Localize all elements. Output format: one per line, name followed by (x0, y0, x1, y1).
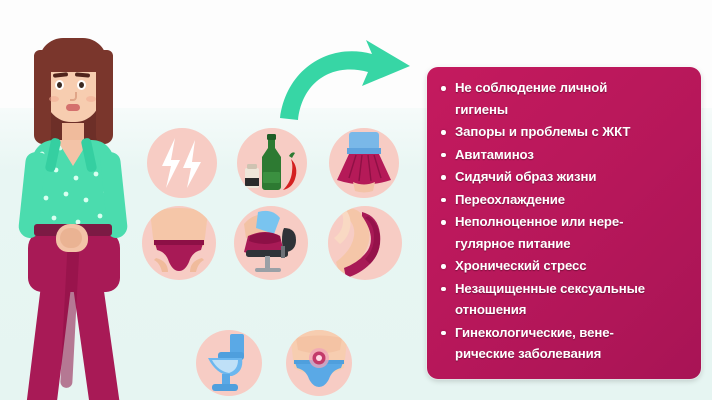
cause-item: Гинекологические, вене- рические заболев… (437, 322, 693, 365)
woman-illustration (8, 28, 138, 400)
pupil-left (57, 82, 62, 88)
icon-circle-inflammation[interactable] (286, 330, 352, 396)
abdomen-pain-icon (286, 330, 352, 396)
cause-item: Запоры и проблемы с ЖКТ (437, 121, 693, 143)
icon-circle-pain[interactable] (147, 128, 217, 198)
cause-item: Незащищенные сексуальные отношения (437, 278, 693, 321)
icon-circle-alcohol[interactable] (237, 128, 307, 198)
hair-strand-right (96, 50, 113, 144)
icon-circle-toilet[interactable] (196, 330, 262, 396)
cause-item: Авитаминоз (437, 144, 693, 166)
lightning-bolt-icon (147, 128, 217, 198)
leg-right (72, 276, 121, 400)
nose (70, 92, 77, 101)
cause-item: Хронический стресс (437, 255, 693, 277)
icon-circle-skirt[interactable] (329, 128, 399, 198)
short-skirt-icon (329, 128, 399, 198)
bottle-chili-icon (237, 128, 307, 198)
lips (66, 104, 80, 111)
hand-overlap (60, 228, 82, 248)
infographic-canvas: Не соблюдение личной гигиеныЗапоры и про… (0, 0, 712, 400)
icon-circle-belly[interactable] (328, 206, 402, 280)
cause-item: Неполноценное или нере- гулярное питание (437, 211, 693, 254)
causes-panel: Не соблюдение личной гигиеныЗапоры и про… (427, 67, 701, 379)
pupil-right (79, 82, 84, 88)
icon-circle-sitting[interactable] (234, 206, 308, 280)
cause-item: Не соблюдение личной гигиены (437, 77, 693, 120)
blush-left (49, 96, 59, 102)
belly-icon (328, 206, 402, 280)
icon-circle-underwear[interactable] (142, 206, 216, 280)
causes-list: Не соблюдение личной гигиеныЗапоры и про… (437, 77, 693, 365)
cause-item: Переохлаждение (437, 189, 693, 211)
blush-right (86, 96, 96, 102)
cause-item: Сидячий образ жизни (437, 166, 693, 188)
curved-arrow-icon (276, 36, 426, 124)
toilet-icon (196, 330, 262, 396)
underwear-icon (142, 206, 216, 280)
office-chair-icon (234, 206, 308, 280)
